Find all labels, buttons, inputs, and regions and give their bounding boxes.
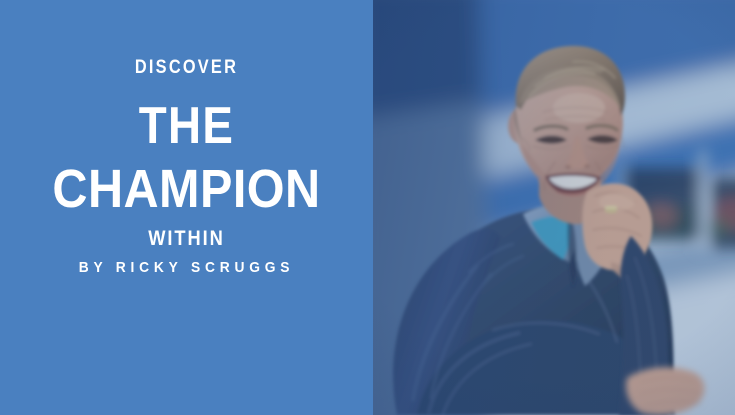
headline-line-1: THE (22, 100, 350, 152)
kicker-text: DISCOVER (26, 58, 347, 77)
author-photo-illustration (373, 0, 735, 415)
title-panel: DISCOVER THE CHAMPION WITHIN BY RICKY SC… (0, 0, 373, 415)
author-photo (373, 0, 735, 415)
author-byline: BY RICKY SCRUGGS (15, 260, 358, 275)
headline-line-2: CHAMPION (19, 162, 355, 216)
book-cover: DISCOVER THE CHAMPION WITHIN BY RICKY SC… (0, 0, 735, 415)
title-stack: DISCOVER THE CHAMPION WITHIN (0, 0, 373, 249)
subline-text: WITHIN (24, 228, 349, 249)
